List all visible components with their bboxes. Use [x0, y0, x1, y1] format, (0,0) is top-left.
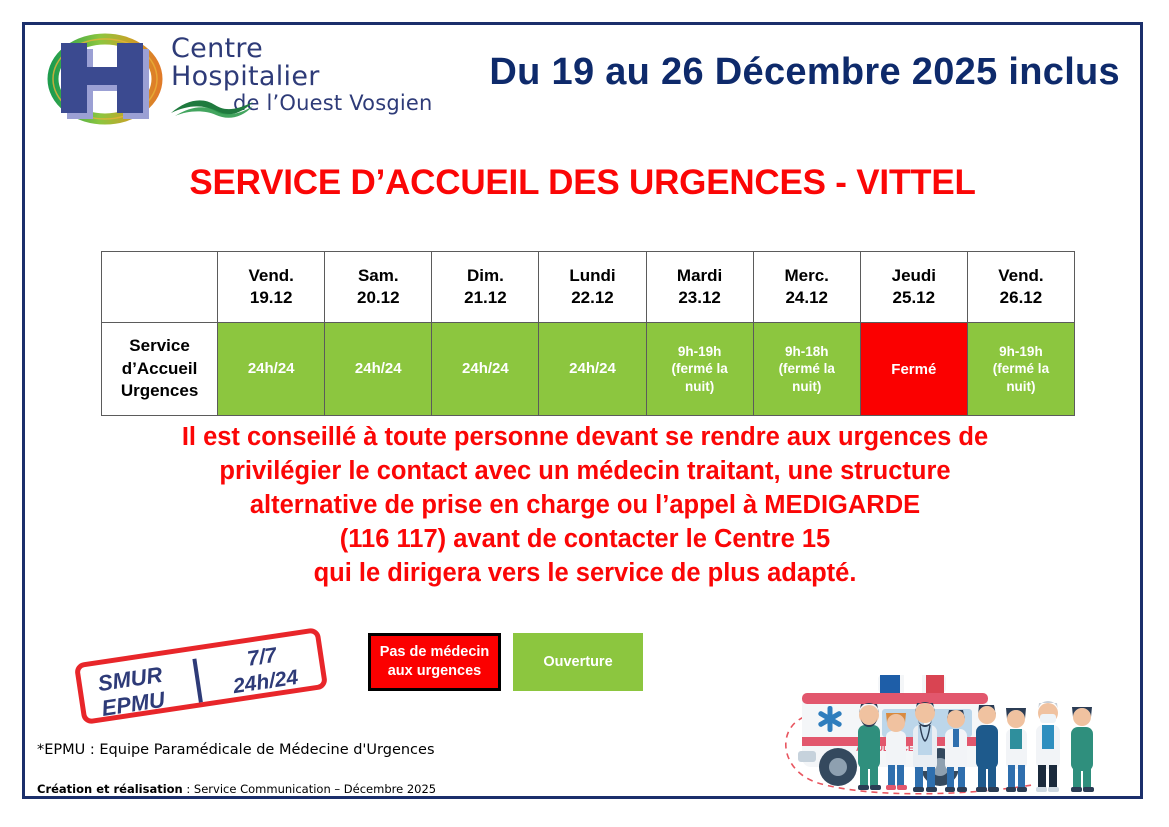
column-day: Jeudi: [861, 265, 967, 287]
cell-line: nuit): [647, 378, 753, 396]
row-label-cell: Service d’Accueil Urgences: [102, 323, 218, 416]
table-header-cell: Vend. 19.12: [218, 252, 325, 323]
column-date: 23.12: [647, 287, 753, 309]
smur-epmu-stamp: SMUR EPMU 7/7 24h/24: [61, 631, 341, 723]
column-day: Lundi: [539, 265, 645, 287]
advisory-line-2: privilégier le contact avec un médecin t…: [85, 455, 1085, 489]
schedule-cell-lundi-22: 24h/24: [539, 323, 646, 416]
credit-line: Création et réalisation : Service Commun…: [37, 782, 436, 796]
legend-closed-line-2: aux urgences: [380, 662, 490, 681]
column-day: Merc.: [754, 265, 860, 287]
epmu-footnote: *EPMU : Equipe Paramédicale de Médecine …: [37, 742, 435, 758]
cell-line: nuit): [968, 378, 1074, 396]
schedule-cell-dim-21: 24h/24: [432, 323, 539, 416]
legend-no-doctor: Pas de médecin aux urgences: [368, 633, 501, 691]
column-day: Dim.: [432, 265, 538, 287]
table-header-cell: Mardi 23.12: [646, 252, 753, 323]
cell-line: (fermé la: [968, 360, 1074, 378]
schedule-cell-vend-19: 24h/24: [218, 323, 325, 416]
cell-line: (fermé la: [647, 360, 753, 378]
advisory-line-5: qui le dirigera vers le service de plus …: [85, 557, 1085, 591]
column-day: Sam.: [325, 265, 431, 287]
logo-line-1: Centre: [171, 35, 433, 63]
legend-open: Ouverture: [513, 633, 643, 691]
legend-closed-line-1: Pas de médecin: [380, 643, 490, 662]
schedule-cell-mardi-23: 9h-19h (fermé la nuit): [646, 323, 753, 416]
cell-line: (fermé la: [754, 360, 860, 378]
credit-prefix: Création et réalisation: [37, 782, 183, 796]
column-date: 25.12: [861, 287, 967, 309]
table-row: Service d’Accueil Urgences 24h/24 24h/24…: [102, 323, 1075, 416]
advisory-line-4: (116 117) avant de contacter le Centre 1…: [85, 523, 1085, 557]
column-date: 20.12: [325, 287, 431, 309]
table-header-cell: Lundi 22.12: [539, 252, 646, 323]
column-date: 24.12: [754, 287, 860, 309]
schedule-cell-jeudi-25: Fermé: [860, 323, 967, 416]
logo-mark-icon: [43, 33, 173, 125]
schedule-cell-merc-24: 9h-18h (fermé la nuit): [753, 323, 860, 416]
poster-header: Centre Hospitalier de l’Ouest Vosgien Du…: [25, 25, 1140, 133]
ambulance-and-staff-illustration: AMBULANCE: [782, 667, 1138, 795]
column-date: 19.12: [218, 287, 324, 309]
column-date: 26.12: [968, 287, 1074, 309]
cell-line: 9h-19h: [968, 343, 1074, 361]
cell-line: Fermé: [861, 361, 967, 378]
cell-line: 9h-19h: [647, 343, 753, 361]
hospital-logo: Centre Hospitalier de l’Ouest Vosgien: [43, 33, 433, 129]
column-day: Vend.: [218, 265, 324, 287]
page-title: Du 19 au 26 Décembre 2025 inclus: [489, 51, 1120, 94]
column-day: Mardi: [647, 265, 753, 287]
stamp-divider: [192, 658, 202, 702]
stamp-border: SMUR EPMU 7/7 24h/24: [74, 627, 328, 725]
table-corner-cell: [102, 252, 218, 323]
table-header-cell: Vend. 26.12: [967, 252, 1074, 323]
table-header-cell: Sam. 20.12: [325, 252, 432, 323]
column-date: 21.12: [432, 287, 538, 309]
schedule-table: Vend. 19.12 Sam. 20.12 Dim. 21.12 Lundi …: [101, 251, 1075, 416]
column-day: Vend.: [968, 265, 1074, 287]
stamp-left-text: SMUR EPMU: [96, 662, 168, 722]
cell-line: 24h/24: [432, 359, 538, 379]
logo-line-3: de l’Ouest Vosgien: [233, 93, 433, 115]
advisory-line-1: Il est conseillé à toute personne devant…: [85, 421, 1085, 455]
main-heading: SERVICE D’ACCUEIL DES URGENCES - VITTEL: [25, 163, 1140, 203]
column-date: 22.12: [539, 287, 645, 309]
table-header-row: Vend. 19.12 Sam. 20.12 Dim. 21.12 Lundi …: [102, 252, 1075, 323]
table-header-cell: Jeudi 25.12: [860, 252, 967, 323]
stamp-right-text: 7/7 24h/24: [211, 638, 317, 703]
advisory-line-3: alternative de prise en charge ou l’appe…: [85, 489, 1085, 523]
cell-line: 24h/24: [539, 359, 645, 379]
cell-line: 24h/24: [218, 359, 324, 379]
cell-line: nuit): [754, 378, 860, 396]
table-header-cell: Merc. 24.12: [753, 252, 860, 323]
schedule-cell-sam-20: 24h/24: [325, 323, 432, 416]
logo-swoosh-icon: [169, 95, 255, 119]
logo-line-2: Hospitalier: [171, 63, 433, 91]
credit-text: : Service Communication – Décembre 2025: [183, 782, 436, 796]
advisory-text: Il est conseillé à toute personne devant…: [85, 421, 1085, 591]
poster-frame: Centre Hospitalier de l’Ouest Vosgien Du…: [22, 22, 1143, 799]
row-label-line: d’Accueil: [102, 358, 217, 380]
table-header-cell: Dim. 21.12: [432, 252, 539, 323]
row-label-line: Urgences: [102, 380, 217, 402]
cell-line: 24h/24: [325, 359, 431, 379]
row-label-line: Service: [102, 335, 217, 357]
schedule-cell-vend-26: 9h-19h (fermé la nuit): [967, 323, 1074, 416]
cell-line: 9h-18h: [754, 343, 860, 361]
